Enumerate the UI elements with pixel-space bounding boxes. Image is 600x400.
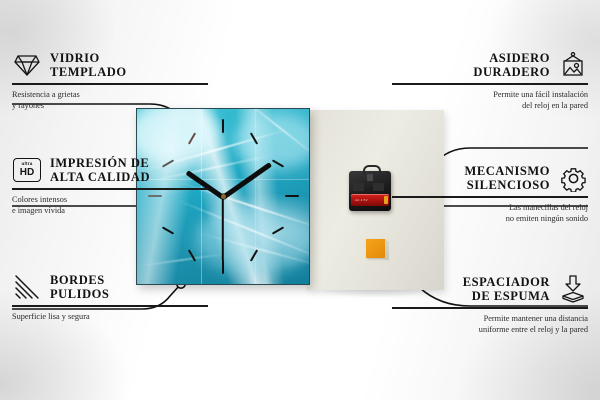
tick-12	[222, 119, 224, 133]
feature-title-line2: SILENCIOSO	[464, 178, 550, 192]
feature-title-line1: ASIDERO	[473, 51, 550, 65]
feature-asidero-duradero: ASIDERO DURADERO Permite una fácil insta…	[392, 50, 588, 111]
feature-sub-line1: Colores intensos	[12, 194, 208, 205]
feature-sub-line1: Superficie lisa y segura	[12, 311, 208, 322]
feature-rule	[392, 307, 588, 309]
feature-rule	[392, 196, 588, 198]
battery: AA 1.5V	[351, 194, 389, 206]
feature-rule	[12, 305, 208, 307]
feature-sub-line2: del reloj en la pared	[392, 100, 588, 111]
feature-mecanismo-silencioso: MECANISMO SILENCIOSO Las manecillas del …	[392, 163, 588, 224]
diamond-icon	[12, 50, 42, 80]
second-hand	[222, 197, 224, 261]
feature-title-line1: MECANISMO	[464, 164, 550, 178]
feature-sub-line1: Permite una fácil instalación	[392, 89, 588, 100]
mechanism-slot-left	[353, 183, 364, 191]
feature-rule	[12, 188, 208, 190]
hd-badge-main-text: HD	[20, 168, 34, 178]
feature-vidrio-templado: VIDRIO TEMPLADO Resistencia a grietas y …	[12, 50, 208, 111]
feature-title-line1: VIDRIO	[50, 51, 127, 65]
clock-mechanism: AA 1.5V	[349, 171, 391, 211]
gear-icon	[558, 163, 588, 193]
clock-center-hub	[221, 194, 226, 199]
tick-3	[285, 195, 299, 197]
battery-terminal	[384, 196, 388, 204]
feature-title-line1: IMPRESIÓN DE	[50, 156, 150, 170]
feature-sub-line1: Resistencia a grietas	[12, 89, 208, 100]
infographic-canvas: AA 1.5V	[0, 0, 600, 400]
feature-sub-line2: y rayones	[12, 100, 208, 111]
ultra-hd-badge-icon: ultra HD	[12, 155, 42, 185]
mechanism-shaft	[367, 174, 373, 181]
feature-sub-line2: uniforme entre el reloj y la pared	[392, 324, 588, 335]
feature-title-line2: DE ESPUMA	[463, 289, 550, 303]
press-down-foam-icon	[558, 274, 588, 304]
feature-title-line1: BORDES	[50, 273, 109, 287]
feature-title-line2: TEMPLADO	[50, 65, 127, 79]
feature-title-line2: ALTA CALIDAD	[50, 170, 150, 184]
hanging-picture-frame-icon	[558, 50, 588, 80]
foam-spacer-side	[385, 241, 389, 260]
feature-espaciador-de-espuma: ESPACIADOR DE ESPUMA Permite mantener un…	[392, 274, 588, 335]
feature-rule	[12, 83, 208, 85]
feature-rule	[392, 83, 588, 85]
feature-sub-line2: e imagen vívida	[12, 205, 208, 216]
battery-label: AA 1.5V	[355, 198, 368, 202]
polished-edge-icon	[12, 272, 42, 302]
feature-title-line1: ESPACIADOR	[463, 275, 550, 289]
feature-sub-line1: Permite mantener una distancia	[392, 313, 588, 324]
feature-impresion-alta-calidad: ultra HD IMPRESIÓN DE ALTA CALIDAD Color…	[12, 155, 208, 216]
feature-sub-line1: Las manecillas del reloj	[392, 202, 588, 213]
foam-spacer	[366, 239, 385, 258]
feature-bordes-pulidos: BORDES PULIDOS Superficie lisa y segura	[12, 272, 208, 322]
tick-6	[222, 260, 224, 274]
mechanism-slot-right	[373, 183, 384, 191]
feature-sub-line2: no emiten ningún sonido	[392, 213, 588, 224]
feature-title-line2: DURADERO	[473, 65, 550, 79]
feature-title-line2: PULIDOS	[50, 287, 109, 301]
